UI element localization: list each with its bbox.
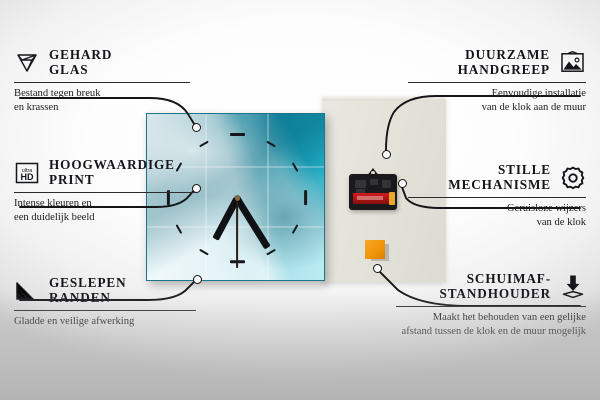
feature-divider bbox=[396, 306, 586, 307]
feature-divider bbox=[14, 310, 196, 311]
feature-header: STILLE MECHANISME bbox=[408, 163, 586, 193]
press-down-icon bbox=[560, 274, 586, 300]
ultra-hd-icon: ultra HD bbox=[14, 161, 40, 185]
feature-titles: SCHUIMAF- STANDHOUDER bbox=[439, 272, 551, 302]
feature-header: ultra HD HOOGWAARDIGE PRINT bbox=[14, 158, 196, 188]
beveled-edges-icon bbox=[14, 280, 40, 302]
feature-titles: STILLE MECHANISME bbox=[448, 163, 551, 193]
connector-dot-gehard-glas bbox=[192, 123, 201, 132]
feature-geslepen-randen: GESLEPEN RANDEN Gladde en veilige afwerk… bbox=[14, 276, 196, 329]
feature-duurzame-handgreep: DUURZAME HANDGREEP Eenvoudige installati… bbox=[408, 48, 586, 115]
feature-stille-mechanisme: STILLE MECHANISME Geruisloze wijzers van… bbox=[408, 163, 586, 230]
feature-hoogwaardige-print: ultra HD HOOGWAARDIGE PRINT Intense kleu… bbox=[14, 158, 196, 225]
picture-frame-icon bbox=[559, 51, 586, 74]
feature-title-line1: DUURZAME bbox=[465, 48, 550, 63]
feature-title-line2: HANDGREEP bbox=[458, 63, 550, 78]
feature-header: DUURZAME HANDGREEP bbox=[408, 48, 586, 78]
feature-subtitle: Bestand tegen breuk en krassen bbox=[14, 87, 190, 115]
feature-title-line2: RANDEN bbox=[49, 291, 127, 306]
feature-gehard-glas: GEHARD GLAS Bestand tegen breuk en krass… bbox=[14, 48, 190, 115]
feature-title-line2: PRINT bbox=[49, 173, 175, 188]
feature-subtitle: Eenvoudige installatie van de klok aan d… bbox=[408, 87, 586, 115]
feature-divider bbox=[14, 82, 190, 83]
feature-title-line2: MECHANISME bbox=[448, 178, 551, 193]
feature-subtitle: Gladde en veilige afwerking bbox=[14, 315, 196, 329]
feature-subtitle: Intense kleuren en een duidelijk beeld bbox=[14, 197, 196, 225]
feature-titles: HOOGWAARDIGE PRINT bbox=[49, 158, 175, 188]
feature-subtitle: Geruisloze wijzers van de klok bbox=[408, 202, 586, 230]
feature-title-line1: GEHARD bbox=[49, 48, 112, 63]
feature-title-line1: STILLE bbox=[498, 163, 551, 178]
feature-title-line2: GLAS bbox=[49, 63, 112, 78]
infographic-canvas: GEHARD GLAS Bestand tegen breuk en krass… bbox=[0, 0, 600, 400]
feature-header: GEHARD GLAS bbox=[14, 48, 190, 78]
gear-icon bbox=[560, 165, 586, 191]
feature-subtitle: Maakt het behouden van een gelijke afsta… bbox=[396, 311, 586, 339]
feature-header: GESLEPEN RANDEN bbox=[14, 276, 196, 306]
diamond-icon bbox=[14, 52, 40, 74]
ultra-hd-icon-bottom-text: HD bbox=[21, 172, 34, 182]
feature-divider bbox=[408, 197, 586, 198]
feature-divider bbox=[14, 192, 196, 193]
feature-title-line1: HOOGWAARDIGE bbox=[49, 158, 175, 173]
connector-dot-stille-mechanisme bbox=[398, 179, 407, 188]
feature-titles: GESLEPEN RANDEN bbox=[49, 276, 127, 306]
feature-schuimafstandhouder: SCHUIMAF- STANDHOUDER Maakt het behouden… bbox=[396, 272, 586, 339]
feature-title-line1: SCHUIMAF- bbox=[467, 272, 551, 287]
connector-dot-duurzame-handgreep bbox=[382, 150, 391, 159]
feature-title-line1: GESLEPEN bbox=[49, 276, 127, 291]
feature-titles: DUURZAME HANDGREEP bbox=[458, 48, 550, 78]
connector-dot-schuimafstandhouder bbox=[373, 264, 382, 273]
feature-title-line2: STANDHOUDER bbox=[439, 287, 551, 302]
feature-titles: GEHARD GLAS bbox=[49, 48, 112, 78]
feature-divider bbox=[408, 82, 586, 83]
feature-header: SCHUIMAF- STANDHOUDER bbox=[396, 272, 586, 302]
